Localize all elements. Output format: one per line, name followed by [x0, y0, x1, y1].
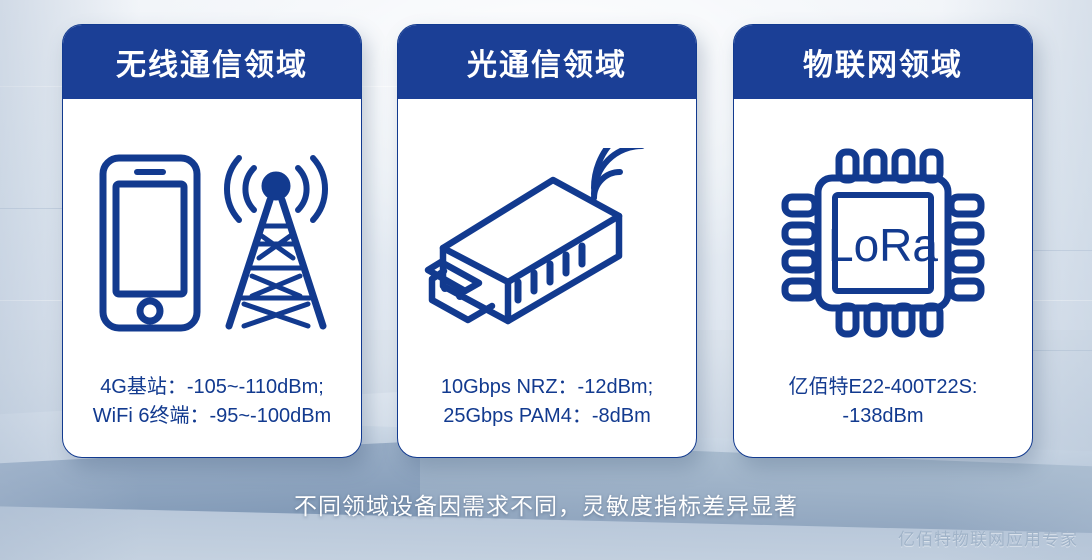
card-title: 光通信领域 — [467, 40, 627, 84]
icon-area — [73, 113, 351, 373]
card-body: LoRa 亿佰特E22-400T22S: -138dBm — [734, 99, 1032, 457]
card-optical-communication[interactable]: 光通信领域 — [397, 24, 697, 458]
card-spec-text: 亿佰特E22-400T22S: -138dBm — [789, 373, 978, 439]
lora-chip-icon: LoRa — [778, 143, 988, 343]
card-wireless-communication[interactable]: 无线通信领域 — [62, 24, 362, 458]
spec-line: WiFi 6终端：-95~-100dBm — [93, 402, 331, 431]
smartphone-and-cell-tower-icon — [87, 148, 337, 338]
card-iot[interactable]: 物联网领域 — [733, 24, 1033, 458]
card-header: 物联网领域 — [734, 25, 1032, 99]
icon-area: LoRa — [744, 113, 1022, 373]
usb-optical-module-wireless-icon — [422, 148, 672, 338]
card-body: 10Gbps NRZ：-12dBm; 25Gbps PAM4：-8dBm — [398, 99, 696, 457]
spec-line: -138dBm — [789, 402, 978, 431]
card-spec-text: 4G基站：-105~-110dBm; WiFi 6终端：-95~-100dBm — [93, 373, 331, 439]
card-title: 物联网领域 — [803, 40, 963, 84]
spec-line: 4G基站：-105~-110dBm; — [93, 373, 331, 402]
card-header: 无线通信领域 — [63, 25, 361, 99]
card-body: 4G基站：-105~-110dBm; WiFi 6终端：-95~-100dBm — [63, 99, 361, 457]
caption-text: 不同领域设备因需求不同，灵敏度指标差异显著 — [0, 487, 1092, 521]
card-title: 无线通信领域 — [116, 40, 308, 84]
icon-area — [408, 113, 686, 373]
card-spec-text: 10Gbps NRZ：-12dBm; 25Gbps PAM4：-8dBm — [441, 373, 653, 439]
infographic-stage: 无线通信领域 — [0, 0, 1092, 560]
watermark-text: 亿佰特物联网应用专家 — [898, 525, 1078, 550]
spec-line: 10Gbps NRZ：-12dBm; — [441, 373, 653, 402]
spec-line: 亿佰特E22-400T22S: — [789, 373, 978, 402]
card-group: 无线通信领域 — [0, 0, 1092, 470]
spec-line: 25Gbps PAM4：-8dBm — [441, 402, 653, 431]
card-header: 光通信领域 — [398, 25, 696, 99]
chip-label: LoRa — [828, 219, 938, 271]
